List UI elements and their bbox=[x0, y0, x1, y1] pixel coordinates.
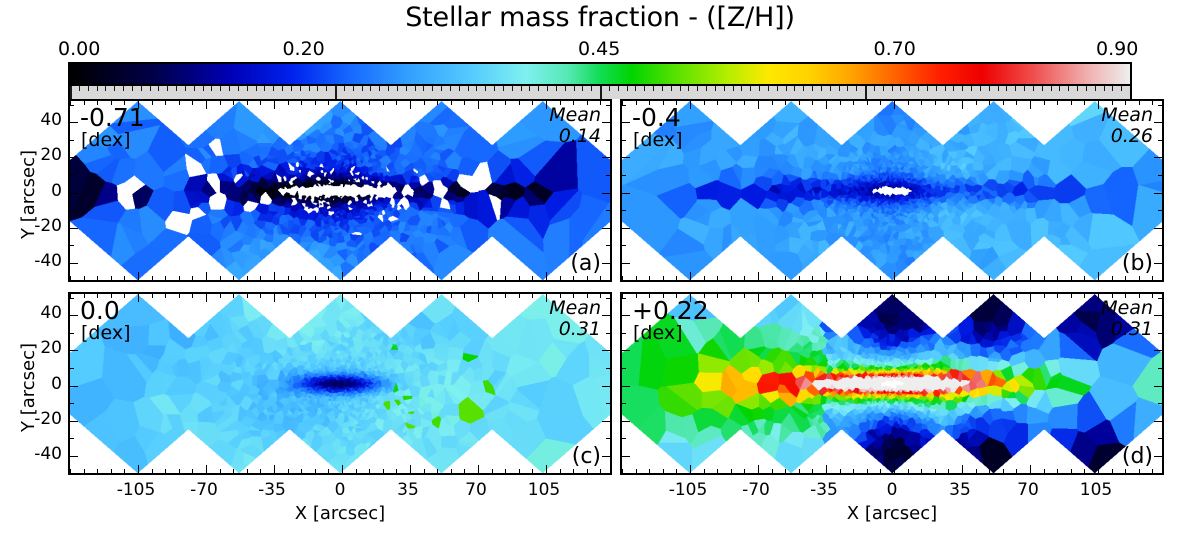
axis-tick-x-minor bbox=[328, 101, 329, 105]
axis-tick-x bbox=[690, 101, 691, 109]
ruler-tick bbox=[1121, 86, 1122, 91]
axis-tick-y-minor bbox=[606, 333, 610, 334]
axis-tick-y-minor bbox=[1158, 438, 1162, 439]
ruler-tick bbox=[794, 86, 795, 91]
axis-tick-x-minor bbox=[935, 101, 936, 105]
axis-tick-y bbox=[622, 350, 630, 351]
axis-tick-x-minor bbox=[532, 469, 533, 473]
ruler-tick bbox=[945, 86, 946, 91]
axis-tick-x-minor bbox=[451, 101, 452, 105]
axis-tick-x bbox=[206, 272, 207, 280]
axis-tick-x bbox=[342, 294, 343, 302]
panel-c-dex-value: 0.0 bbox=[80, 298, 120, 323]
axis-tick-y bbox=[70, 122, 78, 123]
axis-tick-x-minor bbox=[785, 469, 786, 473]
axis-tick-x-minor bbox=[812, 101, 813, 105]
ruler-tick bbox=[715, 86, 716, 91]
panel-b-dex-unit: [dex] bbox=[633, 131, 683, 150]
ruler-tick bbox=[644, 86, 645, 91]
axis-tick-y bbox=[70, 157, 78, 158]
ruler-tick bbox=[282, 86, 283, 91]
ruler-tick bbox=[459, 86, 460, 91]
ruler-tick bbox=[909, 86, 910, 91]
axis-tick-x-minor bbox=[1003, 276, 1004, 280]
axis-tick-x-minor bbox=[424, 469, 425, 473]
axis-tick-x-minor bbox=[396, 469, 397, 473]
axis-tick-x-minor bbox=[1003, 469, 1004, 473]
panel-c-mean-value: 0.31 bbox=[549, 319, 601, 340]
axis-tick-x-minor bbox=[1016, 294, 1017, 298]
axis-tick-y-minor bbox=[1158, 280, 1162, 281]
axis-tick-x-minor bbox=[676, 276, 677, 280]
axis-tick-x-minor bbox=[328, 276, 329, 280]
axis-tick-x-minor bbox=[288, 276, 289, 280]
ruler-tick bbox=[1059, 86, 1060, 91]
axis-tick-x-minor bbox=[799, 276, 800, 280]
axis-tick-x-minor bbox=[220, 294, 221, 298]
axis-tick-x-minor bbox=[1125, 101, 1126, 105]
axis-tick-x-minor bbox=[1084, 101, 1085, 105]
axis-tick-x-minor bbox=[948, 276, 949, 280]
axis-tick-x-minor bbox=[84, 294, 85, 298]
axis-tick-x-minor bbox=[70, 469, 71, 473]
axis-tick-y bbox=[70, 386, 78, 387]
axis-tick-x-minor bbox=[111, 101, 112, 105]
ruler-tick bbox=[309, 86, 310, 91]
axis-tick-x bbox=[758, 294, 759, 302]
axis-tick-x-minor bbox=[649, 469, 650, 473]
ruler-tick bbox=[220, 86, 221, 91]
ruler-tick bbox=[1024, 86, 1025, 91]
panel-b-mean: Mean 0.26 bbox=[1101, 105, 1153, 148]
axis-tick-x-minor bbox=[744, 101, 745, 105]
axis-tick-y bbox=[70, 263, 78, 264]
ruler-tick bbox=[141, 86, 142, 91]
axis-tick-x-minor bbox=[369, 101, 370, 105]
axis-tick-y-minor bbox=[70, 438, 74, 439]
colorbar-tick-1: 0.20 bbox=[282, 38, 324, 60]
axis-tick-x bbox=[826, 294, 827, 302]
ruler-tick bbox=[1104, 86, 1105, 91]
axis-tick-x-minor bbox=[111, 469, 112, 473]
axis-tick-x-minor bbox=[799, 101, 800, 105]
axis-tick-x-minor bbox=[247, 276, 248, 280]
axis-tick-x bbox=[1098, 272, 1099, 280]
x-tick-label: -35 bbox=[794, 480, 854, 500]
axis-tick-y bbox=[622, 228, 630, 229]
ruler-tick bbox=[1033, 86, 1034, 91]
ruler-tick bbox=[335, 86, 337, 99]
axis-tick-x-minor bbox=[192, 276, 193, 280]
ruler-tick bbox=[256, 86, 257, 91]
axis-tick-x-minor bbox=[492, 276, 493, 280]
x-tick-label: -105 bbox=[106, 480, 166, 500]
axis-tick-y bbox=[622, 122, 630, 123]
axis-tick-y-minor bbox=[70, 245, 74, 246]
axis-tick-x-minor bbox=[165, 469, 166, 473]
axis-tick-x-minor bbox=[233, 469, 234, 473]
axis-tick-x-minor bbox=[587, 276, 588, 280]
axis-tick-y-minor bbox=[1158, 105, 1162, 106]
axis-tick-x bbox=[826, 101, 827, 109]
axis-tick-x-minor bbox=[948, 101, 949, 105]
axis-tick-y-minor bbox=[70, 473, 74, 474]
ruler-tick bbox=[185, 86, 186, 91]
panel-d-dex-value: +0.22 bbox=[632, 298, 709, 323]
axis-tick-x-minor bbox=[288, 294, 289, 298]
axis-tick-x-minor bbox=[247, 101, 248, 105]
axis-tick-x-minor bbox=[976, 294, 977, 298]
axis-tick-x-minor bbox=[880, 101, 881, 105]
ruler-tick bbox=[618, 86, 619, 91]
axis-tick-x bbox=[546, 294, 547, 302]
axis-tick-x-minor bbox=[989, 101, 990, 105]
axis-tick-x-minor bbox=[676, 101, 677, 105]
ruler-tick bbox=[627, 86, 628, 91]
axis-tick-y-minor bbox=[1158, 298, 1162, 299]
axis-tick-x-minor bbox=[1152, 294, 1153, 298]
axis-tick-x-minor bbox=[111, 294, 112, 298]
axis-tick-y-minor bbox=[622, 210, 626, 211]
ruler-tick bbox=[512, 86, 513, 91]
ruler-tick bbox=[821, 86, 822, 91]
axis-tick-y-minor bbox=[1158, 368, 1162, 369]
ruler-tick bbox=[759, 86, 760, 91]
axis-tick-x-minor bbox=[152, 469, 153, 473]
ruler-tick bbox=[847, 86, 848, 91]
ruler-tick bbox=[167, 86, 168, 91]
axis-tick-x-minor bbox=[220, 101, 221, 105]
ruler-tick bbox=[680, 86, 681, 91]
axis-tick-x-minor bbox=[424, 101, 425, 105]
ruler-tick bbox=[406, 86, 407, 91]
colorbar-tick-0: 0.00 bbox=[58, 38, 100, 60]
ruler-tick bbox=[1077, 86, 1078, 91]
axis-tick-x bbox=[690, 465, 691, 473]
axis-tick-x-minor bbox=[1003, 101, 1004, 105]
axis-tick-x-minor bbox=[989, 294, 990, 298]
axis-tick-y-minor bbox=[70, 175, 74, 176]
ruler-tick bbox=[521, 86, 522, 91]
x-tick-label: 35 bbox=[378, 480, 438, 500]
axis-tick-x-minor bbox=[989, 469, 990, 473]
axis-tick-x-minor bbox=[97, 469, 98, 473]
axis-tick-x-minor bbox=[532, 294, 533, 298]
axis-tick-x-minor bbox=[451, 469, 452, 473]
x-tick-label: -70 bbox=[174, 480, 234, 500]
ruler-tick bbox=[485, 86, 486, 91]
ruler-tick bbox=[786, 86, 787, 91]
ruler-tick bbox=[582, 86, 583, 91]
axis-tick-x-minor bbox=[328, 294, 329, 298]
ruler-tick bbox=[971, 86, 972, 91]
y-axis-title: Y [arcsec] bbox=[18, 149, 39, 238]
axis-tick-y bbox=[602, 228, 610, 229]
axis-tick-x bbox=[410, 101, 411, 109]
colorbar-tick-3: 0.70 bbox=[874, 38, 916, 60]
panel-b-map bbox=[622, 101, 1162, 280]
axis-tick-x bbox=[138, 294, 139, 302]
axis-tick-x-minor bbox=[179, 469, 180, 473]
ruler-tick bbox=[194, 86, 195, 91]
axis-tick-y bbox=[1154, 315, 1162, 316]
ruler-tick bbox=[733, 86, 734, 91]
axis-tick-x-minor bbox=[220, 469, 221, 473]
axis-tick-y bbox=[70, 350, 78, 351]
axis-tick-y-minor bbox=[622, 403, 626, 404]
axis-tick-x bbox=[1098, 294, 1099, 302]
ruler-tick bbox=[892, 86, 893, 91]
ruler-tick bbox=[538, 86, 539, 91]
axis-tick-y bbox=[1154, 456, 1162, 457]
axis-tick-x-minor bbox=[1152, 276, 1153, 280]
axis-tick-x-minor bbox=[179, 294, 180, 298]
axis-tick-x bbox=[410, 465, 411, 473]
axis-tick-y bbox=[1154, 386, 1162, 387]
axis-tick-x-minor bbox=[328, 469, 329, 473]
axis-tick-x-minor bbox=[315, 276, 316, 280]
ruler-tick bbox=[264, 86, 265, 91]
axis-tick-y-minor bbox=[622, 368, 626, 369]
axis-tick-x bbox=[1098, 101, 1099, 109]
panel-c-dex-unit: [dex] bbox=[81, 324, 131, 343]
ruler-tick bbox=[574, 86, 575, 91]
axis-tick-x-minor bbox=[220, 276, 221, 280]
axis-tick-x bbox=[478, 294, 479, 302]
axis-tick-x-minor bbox=[560, 294, 561, 298]
axis-tick-x-minor bbox=[989, 276, 990, 280]
axis-tick-x-minor bbox=[1084, 469, 1085, 473]
axis-tick-x-minor bbox=[505, 294, 506, 298]
axis-tick-y bbox=[602, 315, 610, 316]
axis-tick-x-minor bbox=[744, 294, 745, 298]
axis-tick-x-minor bbox=[260, 294, 261, 298]
axis-tick-y bbox=[70, 315, 78, 316]
axis-tick-x-minor bbox=[97, 101, 98, 105]
axis-tick-x-minor bbox=[247, 469, 248, 473]
ruler-tick bbox=[671, 86, 672, 91]
axis-tick-x-minor bbox=[573, 469, 574, 473]
axis-tick-y-minor bbox=[606, 140, 610, 141]
axis-tick-x bbox=[894, 272, 895, 280]
ruler-tick bbox=[132, 86, 133, 91]
axis-tick-x-minor bbox=[383, 276, 384, 280]
axis-tick-y-minor bbox=[606, 473, 610, 474]
axis-tick-x bbox=[962, 465, 963, 473]
panel-c-map bbox=[70, 294, 610, 473]
axis-tick-y-minor bbox=[70, 140, 74, 141]
axis-tick-x bbox=[478, 101, 479, 109]
axis-tick-x-minor bbox=[165, 101, 166, 105]
ruler-tick bbox=[556, 86, 557, 91]
ruler-tick bbox=[591, 86, 592, 91]
axis-tick-y-minor bbox=[606, 105, 610, 106]
ruler-tick bbox=[362, 86, 363, 91]
ruler-tick bbox=[989, 86, 990, 91]
axis-tick-x-minor bbox=[573, 276, 574, 280]
axis-tick-x-minor bbox=[315, 101, 316, 105]
axis-tick-x-minor bbox=[192, 294, 193, 298]
ruler-tick bbox=[70, 86, 72, 99]
axis-tick-x-minor bbox=[532, 276, 533, 280]
axis-tick-x-minor bbox=[785, 294, 786, 298]
panel-c-letter: (c) bbox=[572, 444, 601, 469]
axis-tick-y-minor bbox=[1158, 210, 1162, 211]
axis-tick-y bbox=[622, 315, 630, 316]
axis-tick-y-minor bbox=[70, 280, 74, 281]
ruler-tick bbox=[450, 86, 451, 91]
ruler-tick bbox=[1068, 86, 1069, 91]
axis-tick-x-minor bbox=[731, 469, 732, 473]
axis-tick-x-minor bbox=[424, 294, 425, 298]
panel-a-map bbox=[70, 101, 610, 280]
ruler-tick bbox=[291, 86, 292, 91]
axis-tick-y-minor bbox=[1158, 175, 1162, 176]
ruler-tick bbox=[724, 86, 725, 91]
axis-tick-x bbox=[546, 272, 547, 280]
axis-tick-x-minor bbox=[301, 469, 302, 473]
axis-tick-y-minor bbox=[70, 368, 74, 369]
ruler-tick bbox=[370, 86, 371, 91]
axis-tick-y bbox=[1154, 263, 1162, 264]
ruler-tick bbox=[97, 86, 98, 91]
axis-tick-x bbox=[826, 465, 827, 473]
axis-tick-x-minor bbox=[587, 294, 588, 298]
ruler-tick bbox=[1112, 86, 1113, 91]
axis-tick-x-minor bbox=[1152, 101, 1153, 105]
ruler-tick bbox=[229, 86, 230, 91]
axis-tick-x bbox=[546, 101, 547, 109]
ruler-tick bbox=[300, 86, 301, 91]
axis-tick-x-minor bbox=[663, 276, 664, 280]
axis-tick-x bbox=[962, 101, 963, 109]
ruler-tick bbox=[980, 86, 981, 91]
ruler-tick bbox=[468, 86, 469, 91]
axis-tick-x-minor bbox=[799, 469, 800, 473]
x-tick-label: 35 bbox=[930, 480, 990, 500]
axis-tick-x-minor bbox=[369, 276, 370, 280]
axis-tick-y bbox=[1154, 421, 1162, 422]
ruler-tick bbox=[503, 86, 504, 91]
ruler-tick bbox=[388, 86, 389, 91]
axis-tick-x-minor bbox=[867, 276, 868, 280]
axis-tick-x-minor bbox=[532, 101, 533, 105]
axis-tick-y bbox=[622, 193, 630, 194]
ruler-tick bbox=[1042, 86, 1043, 91]
panel-c: 0.0 [dex] Mean 0.31 (c) bbox=[68, 292, 612, 475]
ruler-tick bbox=[856, 86, 857, 91]
axis-tick-x bbox=[342, 465, 343, 473]
axis-tick-x-minor bbox=[867, 294, 868, 298]
axis-tick-x-minor bbox=[731, 294, 732, 298]
axis-tick-x-minor bbox=[1057, 276, 1058, 280]
axis-tick-x-minor bbox=[744, 469, 745, 473]
axis-tick-x-minor bbox=[636, 294, 637, 298]
ruler-tick bbox=[397, 86, 398, 91]
axis-tick-y-minor bbox=[622, 105, 626, 106]
ruler-tick bbox=[158, 86, 159, 91]
ruler-tick bbox=[1086, 86, 1087, 91]
axis-tick-y-minor bbox=[606, 438, 610, 439]
axis-tick-x-minor bbox=[880, 276, 881, 280]
axis-tick-x-minor bbox=[976, 276, 977, 280]
ruler-tick bbox=[273, 86, 274, 91]
axis-tick-x-minor bbox=[908, 294, 909, 298]
axis-tick-x-minor bbox=[233, 294, 234, 298]
axis-tick-x bbox=[138, 272, 139, 280]
axis-tick-x-minor bbox=[840, 276, 841, 280]
ruler-tick bbox=[88, 86, 89, 91]
axis-tick-y-minor bbox=[70, 105, 74, 106]
axis-tick-y-minor bbox=[622, 245, 626, 246]
axis-tick-x-minor bbox=[676, 294, 677, 298]
axis-tick-x-minor bbox=[799, 294, 800, 298]
axis-tick-y-minor bbox=[1158, 473, 1162, 474]
axis-tick-x-minor bbox=[948, 294, 949, 298]
ruler-tick bbox=[1095, 86, 1096, 91]
axis-tick-x-minor bbox=[315, 294, 316, 298]
ruler-tick bbox=[927, 86, 928, 91]
ruler-tick bbox=[105, 86, 106, 91]
axis-tick-x-minor bbox=[179, 101, 180, 105]
axis-tick-x-minor bbox=[731, 101, 732, 105]
axis-tick-y-minor bbox=[606, 280, 610, 281]
axis-tick-x-minor bbox=[464, 294, 465, 298]
panel-d-dex-unit: [dex] bbox=[633, 324, 683, 343]
axis-tick-x bbox=[894, 294, 895, 302]
axis-tick-y bbox=[622, 386, 630, 387]
axis-tick-x-minor bbox=[812, 294, 813, 298]
axis-tick-x bbox=[410, 294, 411, 302]
axis-tick-x-minor bbox=[492, 294, 493, 298]
axis-tick-x-minor bbox=[464, 276, 465, 280]
axis-tick-x bbox=[138, 465, 139, 473]
x-tick-label: -105 bbox=[658, 480, 718, 500]
axis-tick-y-minor bbox=[606, 368, 610, 369]
axis-tick-x-minor bbox=[717, 276, 718, 280]
ruler-tick bbox=[777, 86, 778, 91]
axis-tick-x-minor bbox=[1044, 276, 1045, 280]
ruler-tick bbox=[609, 86, 610, 91]
axis-tick-x-minor bbox=[165, 294, 166, 298]
axis-tick-x-minor bbox=[921, 276, 922, 280]
axis-tick-y bbox=[602, 122, 610, 123]
axis-tick-x-minor bbox=[880, 294, 881, 298]
axis-tick-y-minor bbox=[606, 210, 610, 211]
axis-tick-x-minor bbox=[519, 469, 520, 473]
axis-tick-x-minor bbox=[560, 276, 561, 280]
axis-tick-x-minor bbox=[600, 294, 601, 298]
axis-tick-x-minor bbox=[437, 469, 438, 473]
axis-tick-x-minor bbox=[772, 276, 773, 280]
axis-tick-x-minor bbox=[867, 469, 868, 473]
y-tick-label: -40 bbox=[20, 251, 62, 271]
axis-tick-x-minor bbox=[1112, 469, 1113, 473]
ruler-tick bbox=[706, 86, 707, 91]
colorbar-tick-2: 0.45 bbox=[578, 38, 620, 60]
axis-tick-y-minor bbox=[606, 403, 610, 404]
axis-tick-y-minor bbox=[622, 473, 626, 474]
axis-tick-x-minor bbox=[84, 101, 85, 105]
axis-tick-x-minor bbox=[921, 101, 922, 105]
axis-tick-x-minor bbox=[233, 276, 234, 280]
axis-tick-x bbox=[962, 294, 963, 302]
axis-tick-x-minor bbox=[451, 276, 452, 280]
axis-tick-x-minor bbox=[247, 294, 248, 298]
axis-tick-x-minor bbox=[383, 101, 384, 105]
axis-tick-x-minor bbox=[301, 276, 302, 280]
axis-tick-x-minor bbox=[152, 276, 153, 280]
